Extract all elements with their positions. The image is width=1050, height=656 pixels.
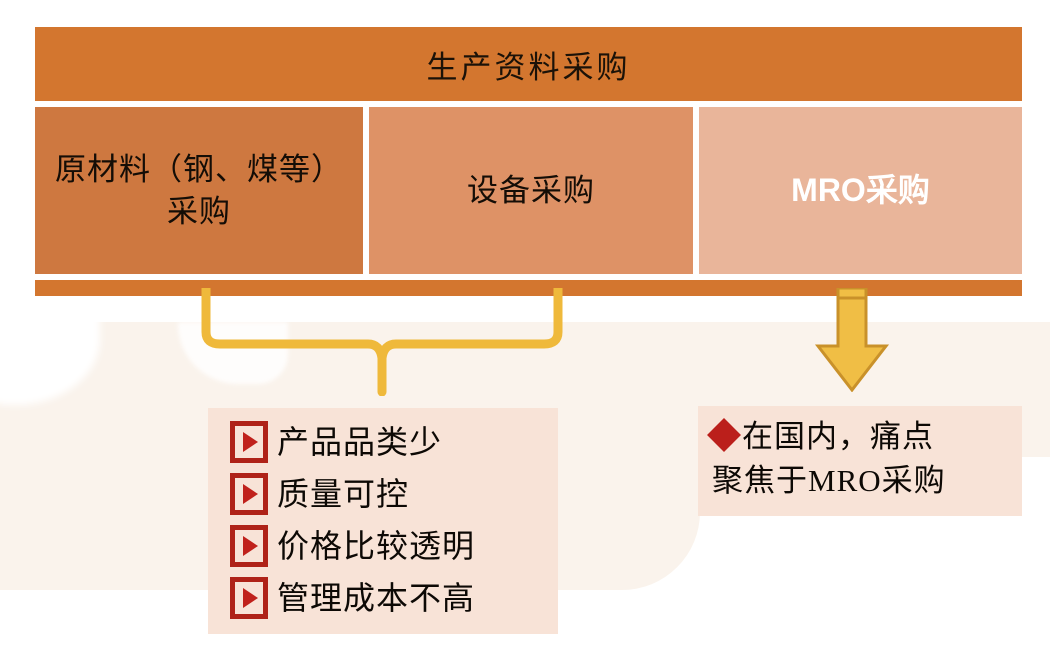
procurement-matrix: 生产资料采购 原材料（钢、煤等）采购 设备采购 MRO采购 (35, 27, 1022, 296)
list-item[interactable]: 价格比较透明 (230, 520, 552, 572)
slide-canvas: 生产资料采购 原材料（钢、煤等）采购 设备采购 MRO采购 产品 (0, 0, 1050, 656)
list-item[interactable]: 质量可控 (230, 468, 552, 520)
bullet-label: 质量可控 (277, 478, 409, 510)
play-triangle-icon (230, 577, 268, 619)
matrix-header: 生产资料采购 (35, 27, 1022, 101)
bullet-label: 产品品类少 (277, 426, 442, 458)
callout-panel: 在国内，痛点 聚焦于MRO采购 (698, 406, 1022, 516)
bullets-panel: 产品品类少 质量可控 价格比较透明 管理成本不高 (208, 408, 558, 634)
callout-text: 聚焦于MRO采购 (712, 459, 946, 503)
matrix-cell-equipment[interactable]: 设备采购 (369, 107, 693, 274)
callout-line: 聚焦于MRO采购 (712, 459, 1014, 503)
matrix-cell-label: 原材料（钢、煤等）采购 (45, 149, 353, 233)
bullet-label: 管理成本不高 (277, 582, 475, 614)
callout-text: 在国内，痛点 (742, 415, 934, 459)
play-triangle-icon (230, 525, 268, 567)
page-title: 生产资料采购 (427, 42, 631, 87)
list-item[interactable]: 产品品类少 (230, 416, 552, 468)
diamond-bullet-icon (707, 418, 741, 452)
bullet-label: 价格比较透明 (277, 530, 475, 562)
matrix-cell-mro[interactable]: MRO采购 (699, 107, 1022, 274)
matrix-cell-label: MRO采购 (791, 169, 930, 212)
callout-line: 在国内，痛点 (712, 415, 1014, 459)
matrix-cell-raw-materials[interactable]: 原材料（钢、煤等）采购 (35, 107, 363, 274)
matrix-columns: 原材料（钢、煤等）采购 设备采购 MRO采购 (35, 107, 1022, 274)
play-triangle-icon (230, 473, 268, 515)
matrix-cell-label: 设备采购 (467, 170, 595, 212)
list-item[interactable]: 管理成本不高 (230, 572, 552, 624)
play-triangle-icon (230, 421, 268, 463)
down-arrow-icon (812, 288, 892, 392)
curly-brace-connector-icon (196, 288, 568, 396)
